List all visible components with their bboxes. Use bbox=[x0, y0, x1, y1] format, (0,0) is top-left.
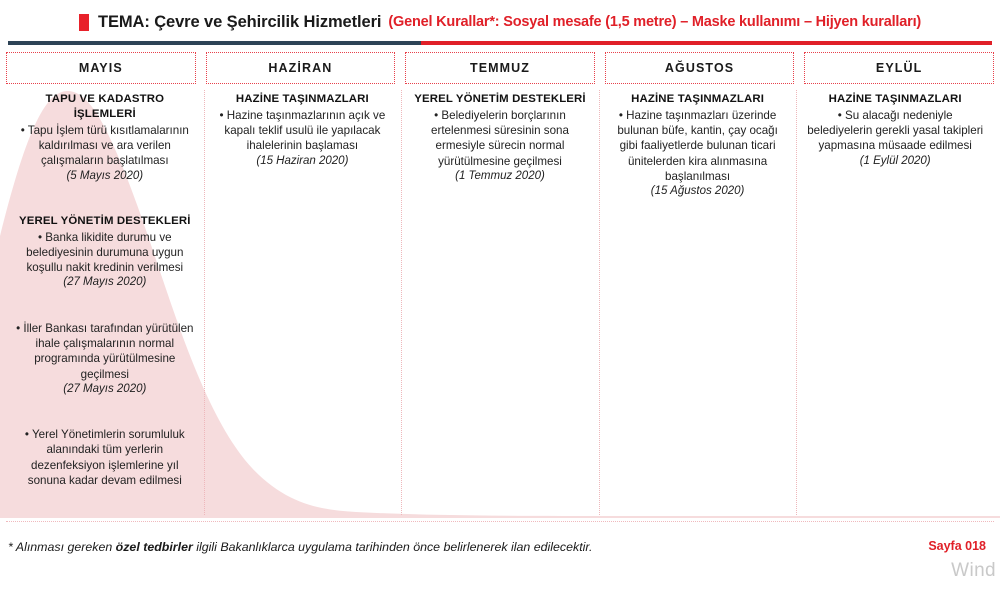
entry-title: YEREL YÖNETİM DESTEKLERİ bbox=[15, 214, 195, 229]
month-label: MAYIS bbox=[79, 61, 123, 75]
column-eylul: HAZİNE TAŞINMAZLARI • Su alacağı nedeniy… bbox=[796, 90, 994, 515]
spacer bbox=[15, 413, 195, 427]
entry-body: • İller Bankası tarafından yürütülen iha… bbox=[15, 321, 195, 382]
title-bullet-icon bbox=[79, 14, 89, 31]
entry-body: • Yerel Yönetimlerin sorumluluk alanında… bbox=[15, 427, 195, 488]
month-box-eylul: EYLÜL bbox=[804, 52, 994, 84]
entry-item: • İller Bankası tarafından yürütülen iha… bbox=[15, 321, 195, 397]
column-haziran: HAZİNE TAŞINMAZLARI • Hazine taşınmazlar… bbox=[204, 90, 402, 515]
entry-date: (15 Ağustos 2020) bbox=[608, 184, 788, 199]
title-main-text: TEMA: Çevre ve Şehircilik Hizmetleri bbox=[98, 13, 381, 32]
entry-item: HAZİNE TAŞINMAZLARI • Su alacağı nedeniy… bbox=[805, 92, 985, 169]
entry-date: (1 Eylül 2020) bbox=[805, 154, 985, 169]
timeline-columns: TAPU VE KADASTRO İŞLEMLERİ • Tapu İşlem … bbox=[6, 90, 994, 515]
entry-item: HAZİNE TAŞINMAZLARI • Hazine taşınmazlar… bbox=[608, 92, 788, 199]
entry-date: (27 Mayıs 2020) bbox=[15, 275, 195, 290]
footnote: * Alınması gereken özel tedbirler ilgili… bbox=[8, 540, 888, 554]
entry-body: • Hazine taşınmazları üzerinde bulunan b… bbox=[608, 108, 788, 184]
month-box-haziran: HAZİRAN bbox=[206, 52, 396, 84]
column-temmuz: YEREL YÖNETİM DESTEKLERİ • Belediyelerin… bbox=[401, 90, 599, 515]
entry-date: (15 Haziran 2020) bbox=[213, 154, 393, 169]
entry-body: • Belediyelerin borçlarının ertelenmesi … bbox=[410, 108, 590, 169]
entry-title: HAZİNE TAŞINMAZLARI bbox=[213, 92, 393, 107]
month-box-agustos: AĞUSTOS bbox=[605, 52, 795, 84]
month-label: EYLÜL bbox=[876, 61, 922, 75]
entry-date: (5 Mayıs 2020) bbox=[15, 169, 195, 184]
entry-item: TAPU VE KADASTRO İŞLEMLERİ • Tapu İşlem … bbox=[15, 92, 195, 184]
month-label: HAZİRAN bbox=[268, 61, 332, 75]
entry-item: • Yerel Yönetimlerin sorumluluk alanında… bbox=[15, 427, 195, 488]
slide-page: TEMA: Çevre ve Şehircilik Hizmetleri (Ge… bbox=[0, 0, 1000, 600]
month-box-temmuz: TEMMUZ bbox=[405, 52, 595, 84]
month-label: AĞUSTOS bbox=[665, 61, 734, 75]
entry-body: • Su alacağı nedeniyle belediyelerin ger… bbox=[805, 108, 985, 154]
header-rule-red-segment bbox=[421, 41, 992, 45]
entry-item: YEREL YÖNETİM DESTEKLERİ • Banka likidit… bbox=[15, 214, 195, 291]
header-rule bbox=[8, 41, 992, 45]
page-number: Sayfa 018 bbox=[928, 539, 986, 553]
footnote-lead: * Alınması gereken bbox=[8, 540, 116, 554]
entry-title: HAZİNE TAŞINMAZLARI bbox=[608, 92, 788, 107]
spacer bbox=[15, 307, 195, 321]
entry-item: YEREL YÖNETİM DESTEKLERİ • Belediyelerin… bbox=[410, 92, 590, 184]
column-mayis: TAPU VE KADASTRO İŞLEMLERİ • Tapu İşlem … bbox=[6, 90, 204, 515]
entry-title: HAZİNE TAŞINMAZLARI bbox=[805, 92, 985, 107]
spacer bbox=[15, 200, 195, 214]
windows-activation-watermark: Wind bbox=[951, 560, 996, 582]
month-label: TEMMUZ bbox=[470, 61, 530, 75]
entry-body: • Banka likidite durumu ve belediyesinin… bbox=[15, 230, 195, 276]
title-sub-text: (Genel Kurallar*: Sosyal mesafe (1,5 met… bbox=[388, 14, 921, 30]
month-header-row: MAYIS HAZİRAN TEMMUZ AĞUSTOS EYLÜL bbox=[6, 52, 994, 84]
entry-date: (27 Mayıs 2020) bbox=[15, 382, 195, 397]
entry-body: • Tapu İşlem türü kısıtlamalarının kaldı… bbox=[15, 123, 195, 169]
page-title: TEMA: Çevre ve Şehircilik Hizmetleri (Ge… bbox=[0, 9, 1000, 35]
column-agustos: HAZİNE TAŞINMAZLARI • Hazine taşınmazlar… bbox=[599, 90, 797, 515]
entry-title: YEREL YÖNETİM DESTEKLERİ bbox=[410, 92, 590, 107]
footer-divider bbox=[6, 521, 994, 522]
entry-body: • Hazine taşınmazlarının açık ve kapalı … bbox=[213, 108, 393, 154]
footnote-tail: ilgili Bakanlıklarca uygulama tarihinden… bbox=[193, 540, 593, 554]
month-box-mayis: MAYIS bbox=[6, 52, 196, 84]
entry-item: HAZİNE TAŞINMAZLARI • Hazine taşınmazlar… bbox=[213, 92, 393, 169]
header-rule-navy-segment bbox=[8, 41, 421, 45]
entry-title: TAPU VE KADASTRO İŞLEMLERİ bbox=[15, 92, 195, 122]
entry-date: (1 Temmuz 2020) bbox=[410, 169, 590, 184]
footnote-emphasis: özel tedbirler bbox=[116, 540, 193, 554]
